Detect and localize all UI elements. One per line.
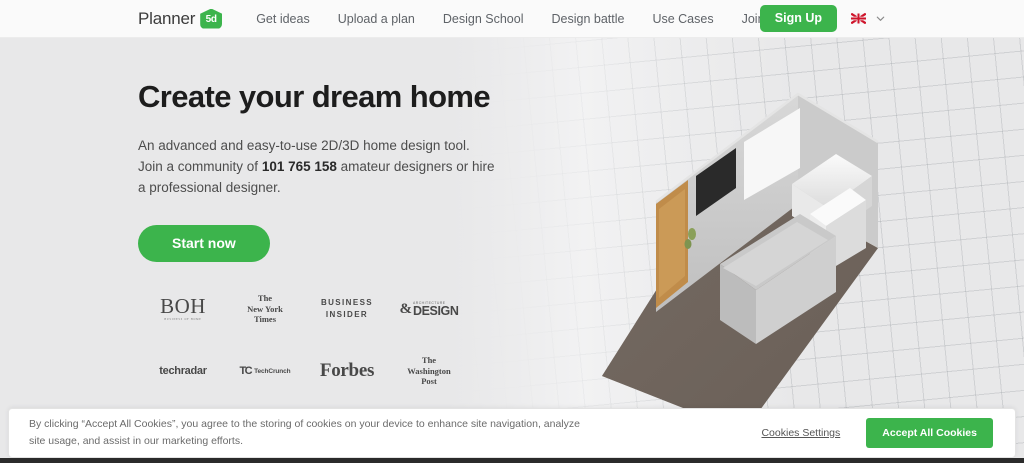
bi-line2: INSIDER xyxy=(326,310,368,319)
techradar-logo-text: techradar xyxy=(159,365,206,377)
press-row-1: BOH BUSINESS OF HOME The New York Times … xyxy=(142,278,472,340)
logo[interactable]: Planner 5d xyxy=(138,9,222,29)
page-bottom-strip xyxy=(0,458,1024,463)
nyt-line2: New York xyxy=(247,304,283,314)
site-header: Planner 5d Get ideas Upload a plan Desig… xyxy=(0,0,1024,38)
press-logo-boh: BOH BUSINESS OF HOME xyxy=(142,296,224,322)
boh-logo-sub: BUSINESS OF HOME xyxy=(160,319,206,322)
press-logo-new-york-times: The New York Times xyxy=(224,293,306,324)
wp-line1: The xyxy=(422,355,436,365)
hero-sub-line2-post: amateur designers or hire xyxy=(337,159,495,174)
techcrunch-text: TechCrunch xyxy=(254,368,290,375)
nav-item-get-ideas[interactable]: Get ideas xyxy=(256,12,310,26)
page-title: Create your dream home xyxy=(138,80,498,114)
logo-text: Planner xyxy=(138,9,195,29)
techcrunch-mark: TC xyxy=(239,365,251,377)
nav-item-design-school[interactable]: Design School xyxy=(443,12,524,26)
boh-logo-text: BOH xyxy=(160,294,206,318)
hero-sub-line2-pre: Join a community of xyxy=(138,159,262,174)
page-root: Planner 5d Get ideas Upload a plan Desig… xyxy=(0,0,1024,463)
uk-flag-icon xyxy=(851,13,866,24)
cookie-consent-text: By clicking “Accept All Cookies”, you ag… xyxy=(29,416,589,450)
press-logo-techcrunch: TC TechCrunch xyxy=(224,365,306,377)
cookie-consent-banner: By clicking “Accept All Cookies”, you ag… xyxy=(8,408,1016,458)
ad-big: DESIGN xyxy=(413,305,459,318)
cookie-actions: Cookies Settings Accept All Cookies xyxy=(761,418,993,448)
3d-room-render xyxy=(560,76,960,436)
start-now-button[interactable]: Start now xyxy=(138,225,270,262)
hero-sub-line1: An advanced and easy-to-use 2D/3D home d… xyxy=(138,138,470,153)
header-actions: Sign Up xyxy=(760,5,886,32)
house-badge-icon: 5d xyxy=(200,9,222,29)
main-nav: Get ideas Upload a plan Design School De… xyxy=(256,12,822,26)
bi-line1: BUSINESS xyxy=(321,298,373,307)
press-logo-washington-post: The Washington Post xyxy=(388,355,470,386)
wp-line2: Washington xyxy=(407,366,450,376)
hero-sub-line3: a professional designer. xyxy=(138,180,281,195)
nav-item-use-cases[interactable]: Use Cases xyxy=(652,12,713,26)
press-logo-forbes: Forbes xyxy=(306,360,388,382)
nav-item-upload-a-plan[interactable]: Upload a plan xyxy=(338,12,415,26)
wp-line3: Post xyxy=(421,376,437,386)
sign-up-button[interactable]: Sign Up xyxy=(760,5,837,32)
accept-all-cookies-button[interactable]: Accept All Cookies xyxy=(866,418,993,448)
press-logo-architecture-design: & ARCHITECTURE DESIGN xyxy=(388,301,470,318)
cookies-settings-link[interactable]: Cookies Settings xyxy=(761,427,840,439)
hero-section: Create your dream home An advanced and e… xyxy=(0,38,1024,463)
press-logo-business-insider: BUSINESS INSIDER xyxy=(306,297,388,321)
press-row-2: techradar TC TechCrunch Forbes The Washi… xyxy=(142,340,472,402)
nav-item-design-battle[interactable]: Design battle xyxy=(551,12,624,26)
ad-mark: & xyxy=(399,302,412,317)
hero-copy: Create your dream home An advanced and e… xyxy=(138,80,498,262)
nyt-line3: Times xyxy=(254,314,276,324)
community-count: 101 765 158 xyxy=(262,159,337,174)
chevron-down-icon xyxy=(875,13,886,24)
logo-badge-label: 5d xyxy=(206,15,217,29)
nyt-line1: The xyxy=(258,293,272,303)
forbes-logo-text: Forbes xyxy=(320,360,374,382)
press-logo-techradar: techradar xyxy=(142,365,224,377)
language-selector[interactable] xyxy=(851,13,886,24)
press-logos: BOH BUSINESS OF HOME The New York Times … xyxy=(142,278,472,402)
hero-subtitle: An advanced and easy-to-use 2D/3D home d… xyxy=(138,136,498,199)
